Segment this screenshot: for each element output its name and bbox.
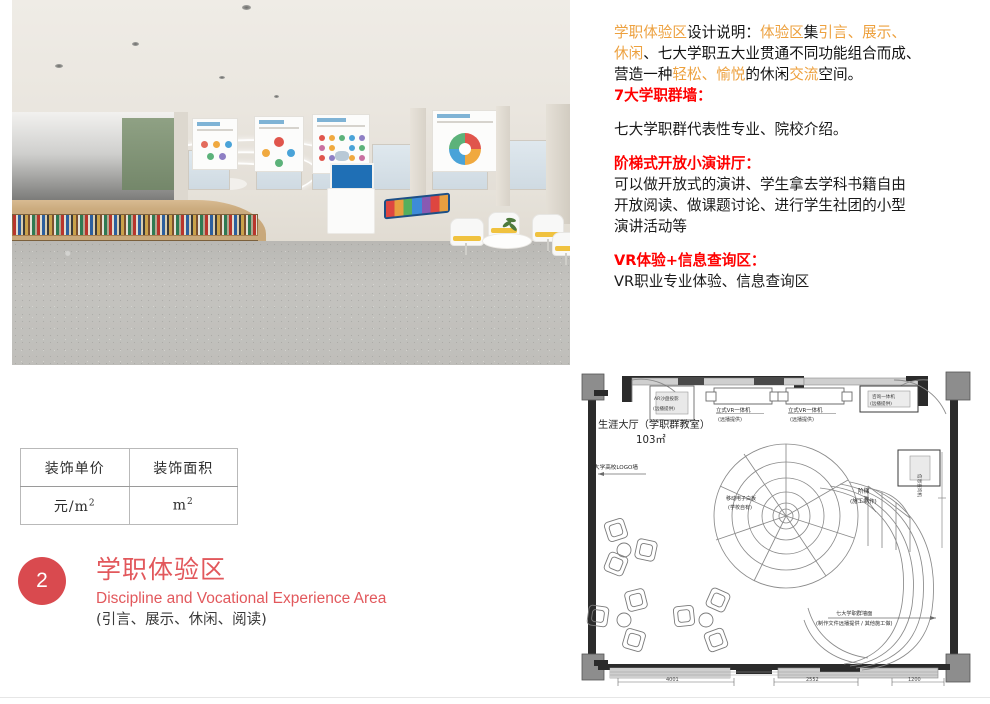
downlight-icon	[242, 5, 251, 10]
terrazzo-floor	[12, 241, 570, 365]
section-number-badge: 2	[18, 557, 66, 605]
wall-column	[496, 106, 510, 206]
wall-column	[410, 108, 426, 208]
vr-machine-1-label-2: (远播提供)	[718, 416, 742, 423]
body-7-career-wall: 七大学职群代表性专业、院校介绍。	[614, 119, 974, 140]
section-text: 学职体验区 Discipline and Vocational Experien…	[96, 555, 386, 630]
section-title-en: Discipline and Vocational Experience Are…	[96, 588, 386, 609]
vr-machine-2-label-1: 立式VR一体机	[788, 406, 823, 414]
room-name-label: 生涯大厅（学职群教室）	[598, 418, 710, 431]
amphitheatre-radial	[714, 444, 858, 588]
ar-sandbox-label-1: AR沙盘投影	[654, 395, 679, 402]
heading-7-career-wall: 7大学职群墙：	[614, 85, 974, 106]
downlight-icon	[219, 76, 225, 79]
career-poster	[192, 118, 238, 170]
td-area: m2	[129, 487, 238, 525]
career-wall-label-1: 七大学职群墙面	[836, 609, 872, 617]
career-wall-label-2: (制作文件远播提供 / 其他施工做)	[816, 619, 893, 627]
downlight-icon	[274, 95, 279, 98]
decoration-spec-table: 装饰单价 装饰面积 元/m2 m2	[20, 448, 238, 525]
floor-plan-svg: AR沙盘投影 (远播提供) 立式VR一体机 (远播提供) 立式VR一体机 (远播	[558, 368, 990, 688]
info-cabinet-symbol: 信息查询机	[898, 450, 940, 497]
round-side-table	[482, 233, 532, 249]
info-kiosk-body	[327, 188, 375, 234]
dimension-3: 1200	[908, 677, 921, 683]
desc-kw-area: 学职体验区	[614, 24, 687, 41]
table-header-row: 装饰单价 装饰面积	[21, 449, 238, 487]
lounge-chair	[552, 232, 570, 256]
whiteboard-label-2: (学校自有)	[728, 504, 752, 511]
th-area: 装饰面积	[129, 449, 238, 487]
body-lecture-line3: 演讲活动等	[614, 216, 974, 237]
body-lecture-line1: 可以做开放式的演讲、学生拿去学科书籍自由	[614, 174, 974, 195]
heading-lecture-hall: 阶梯式开放小演讲厅：	[614, 153, 974, 174]
table-row: 元/m2 m2	[21, 487, 238, 525]
potted-plant	[500, 216, 518, 234]
lounge-chair	[450, 218, 484, 246]
design-description: 学职体验区设计说明：体验区集引言、展示、 休闲、七大学职五大业贯通不同功能组合而…	[614, 22, 974, 292]
body-lecture-line2: 开放阅读、做课题讨论、进行学生社团的小型	[614, 195, 974, 216]
section-title-cn: 学职体验区	[96, 555, 386, 585]
desc-line-3: 营造一种轻松、愉悦的休闲交流空间。	[614, 64, 974, 85]
heading-vr-zone: VR体验+信息查询区：	[614, 250, 974, 271]
career-poster	[254, 116, 304, 172]
td-unit-price: 元/m2	[21, 487, 130, 525]
desc-line-2: 休闲、七大学职五大业贯通不同功能组合而成、	[614, 43, 974, 64]
room-render-photo	[12, 0, 570, 365]
career-poster	[432, 110, 498, 172]
unit-price-value: 元/m	[54, 499, 89, 515]
area-value: m	[173, 498, 187, 514]
green-wall-panel	[122, 118, 174, 190]
logo-wall-leader	[598, 472, 646, 476]
ar-sandbox-symbol	[650, 386, 694, 420]
loose-seating-group	[587, 517, 731, 652]
vr-machine-1-symbol	[706, 388, 780, 404]
th-unit-price: 装饰单价	[21, 449, 130, 487]
desc-line-1: 学职体验区设计说明：体验区集引言、展示、	[614, 22, 974, 43]
logo-wall-label: 大学高校LOGO墙	[594, 463, 638, 471]
body-vr-zone: VR职业专业体验、信息查询区	[614, 271, 974, 292]
page-divider	[0, 697, 990, 698]
vr-machine-1-label-1: 立式VR一体机	[716, 406, 751, 414]
dimension-2: 2552	[806, 677, 819, 683]
slide-page: 学职体验区设计说明：体验区集引言、展示、 休闲、七大学职五大业贯通不同功能组合而…	[0, 0, 990, 704]
query-machine-label-2: (远播提供)	[870, 400, 892, 407]
ar-sandbox-label-2: (远播提供)	[653, 405, 675, 412]
wall-column	[546, 104, 570, 224]
stairs-label-2: (施工制作)	[850, 497, 877, 505]
dimension-1: 4001	[666, 677, 679, 683]
room-area-label: 103㎡	[636, 434, 666, 446]
section-subtitle-cn: (引言、展示、休闲、阅读)	[96, 610, 386, 630]
stairs-label-1: 阶梯	[858, 487, 870, 495]
downlight-icon	[132, 42, 139, 46]
unit-price-sup: 2	[89, 498, 96, 508]
vr-machine-2-label-2: (远播提供)	[790, 416, 814, 423]
vr-machine-2-symbol	[778, 388, 852, 404]
floor-plan: AR沙盘投影 (远播提供) 立式VR一体机 (远播提供) 立式VR一体机 (远播	[558, 368, 990, 688]
downlight-icon	[55, 64, 63, 68]
area-sup: 2	[187, 497, 194, 507]
whiteboard-label-1: 移动电子白板	[726, 495, 756, 502]
info-cabinet-label: 信息查询机	[916, 474, 923, 497]
wall-beam	[174, 112, 188, 208]
query-machine-label-1: 咨询一体机	[872, 393, 895, 400]
